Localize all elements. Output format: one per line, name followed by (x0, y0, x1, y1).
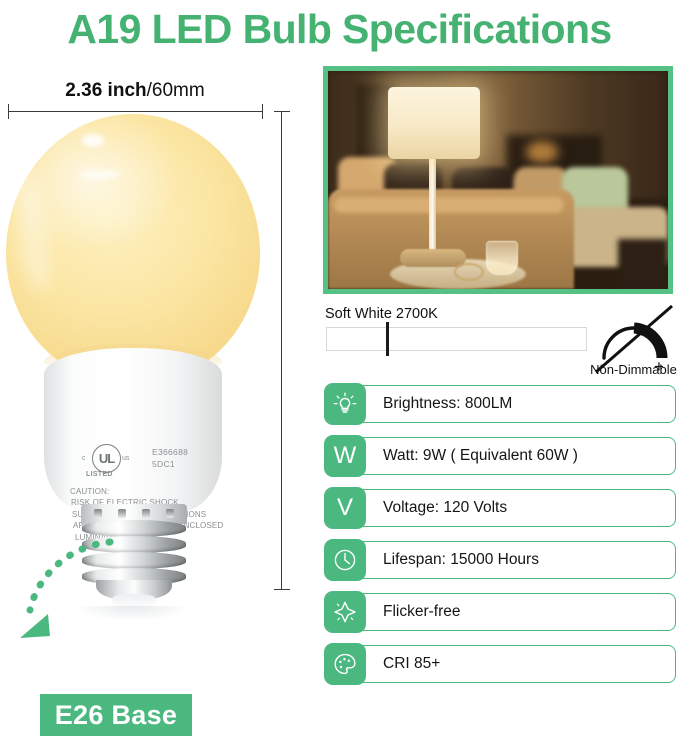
color-temperature-marker (386, 322, 389, 356)
spec-row-lifespan[interactable]: Lifespan: 15000 Hours (324, 539, 676, 581)
spec-row-brightness[interactable]: Brightness: 800LM (324, 383, 676, 425)
photo-lamp-shade (388, 87, 480, 159)
spec-row-voltage[interactable]: Voltage: 120 Volts V (324, 487, 676, 529)
photo-keys (454, 263, 484, 281)
width-dimension-inch: 2.36 inch (65, 80, 146, 101)
ul-code-line-2: 5DC1 (152, 458, 188, 470)
spec-row-cri[interactable]: CRI 85+ (324, 643, 676, 685)
page-title: A19 LED Bulb Specifications (0, 0, 679, 58)
spec-text: Watt: 9W ( Equivalent 60W ) (353, 447, 578, 465)
ul-listed-text: LISTED (86, 471, 113, 478)
ul-file-code: E366688 5DC1 (152, 446, 188, 470)
ul-certification-label: UL c us LISTED E366688 5DC1 CAUTION: RIS… (70, 444, 230, 478)
spec-text: Voltage: 120 Volts (353, 499, 507, 517)
specifications-panel: Soft White 2700K - + Non-Dimmable Bright… (320, 58, 679, 693)
lamp-photo-frame (323, 66, 673, 294)
bulb-highlight (80, 170, 120, 179)
non-dimmable-label: Non-Dimmable (586, 362, 679, 377)
base-dimple (118, 509, 126, 518)
volt-letter-icon: V (324, 487, 366, 529)
photo-lamp-base (400, 249, 466, 267)
clock-icon (324, 539, 366, 581)
volt-letter: V (337, 496, 353, 520)
height-tick-top (274, 111, 290, 112)
sparkle-icon (324, 591, 366, 633)
ul-c-marking: c (82, 455, 86, 462)
color-temperature-label: Soft White 2700K (325, 306, 438, 322)
height-dimension-line (281, 111, 282, 590)
lightbulb-icon (324, 383, 366, 425)
base-dimple (166, 509, 174, 518)
watt-letter: W (334, 444, 357, 468)
lamp-lifestyle-photo (328, 71, 668, 289)
spec-text: Flicker-free (353, 603, 461, 621)
watt-letter-icon: W (324, 435, 366, 477)
bulb-highlight (82, 134, 104, 147)
spec-pill: CRI 85+ (352, 645, 676, 683)
e26-base-badge: E26 Base (40, 694, 192, 736)
width-dimension-mm: /60mm (147, 80, 205, 101)
caution-line: CAUTION: (70, 486, 223, 497)
width-dimension-label: 2.36 inch/60mm (0, 80, 270, 102)
base-dimple (142, 509, 150, 518)
base-thread (82, 520, 186, 537)
spec-pill: Voltage: 120 Volts (352, 489, 676, 527)
palette-icon (324, 643, 366, 685)
spec-row-watt[interactable]: Watt: 9W ( Equivalent 60W ) W (324, 435, 676, 477)
base-dimple (94, 509, 102, 518)
spec-row-flicker-free[interactable]: Flicker-free (324, 591, 676, 633)
base-pointer-arrow-icon (14, 536, 134, 656)
photo-lamp-stem (429, 159, 436, 255)
spec-list: Brightness: 800LM (324, 383, 676, 695)
spec-pill: Flicker-free (352, 593, 676, 631)
photo-sofa-back (334, 197, 564, 213)
ul-logo-icon: UL (92, 444, 121, 473)
height-tick-bottom (274, 589, 290, 590)
ul-us-marking: us (122, 455, 129, 462)
bulb-diagram-panel: 2.36 inch/60mm 4.17 inch/106mm UL c us L… (0, 58, 318, 693)
color-temperature-gradient-bar (326, 327, 587, 351)
photo-drinking-glass (486, 241, 518, 275)
spec-text: Brightness: 800LM (353, 395, 512, 413)
photo-tv-glow (526, 141, 558, 163)
photo-side-table (618, 239, 668, 289)
ul-mark: UL c us LISTED E366688 5DC1 (70, 444, 220, 478)
spec-text: CRI 85+ (353, 655, 440, 673)
ul-code-line-1: E366688 (152, 446, 188, 458)
spec-text: Lifespan: 15000 Hours (353, 551, 539, 569)
spec-pill: Watt: 9W ( Equivalent 60W ) (352, 437, 676, 475)
spec-pill: Brightness: 800LM (352, 385, 676, 423)
spec-pill: Lifespan: 15000 Hours (352, 541, 676, 579)
